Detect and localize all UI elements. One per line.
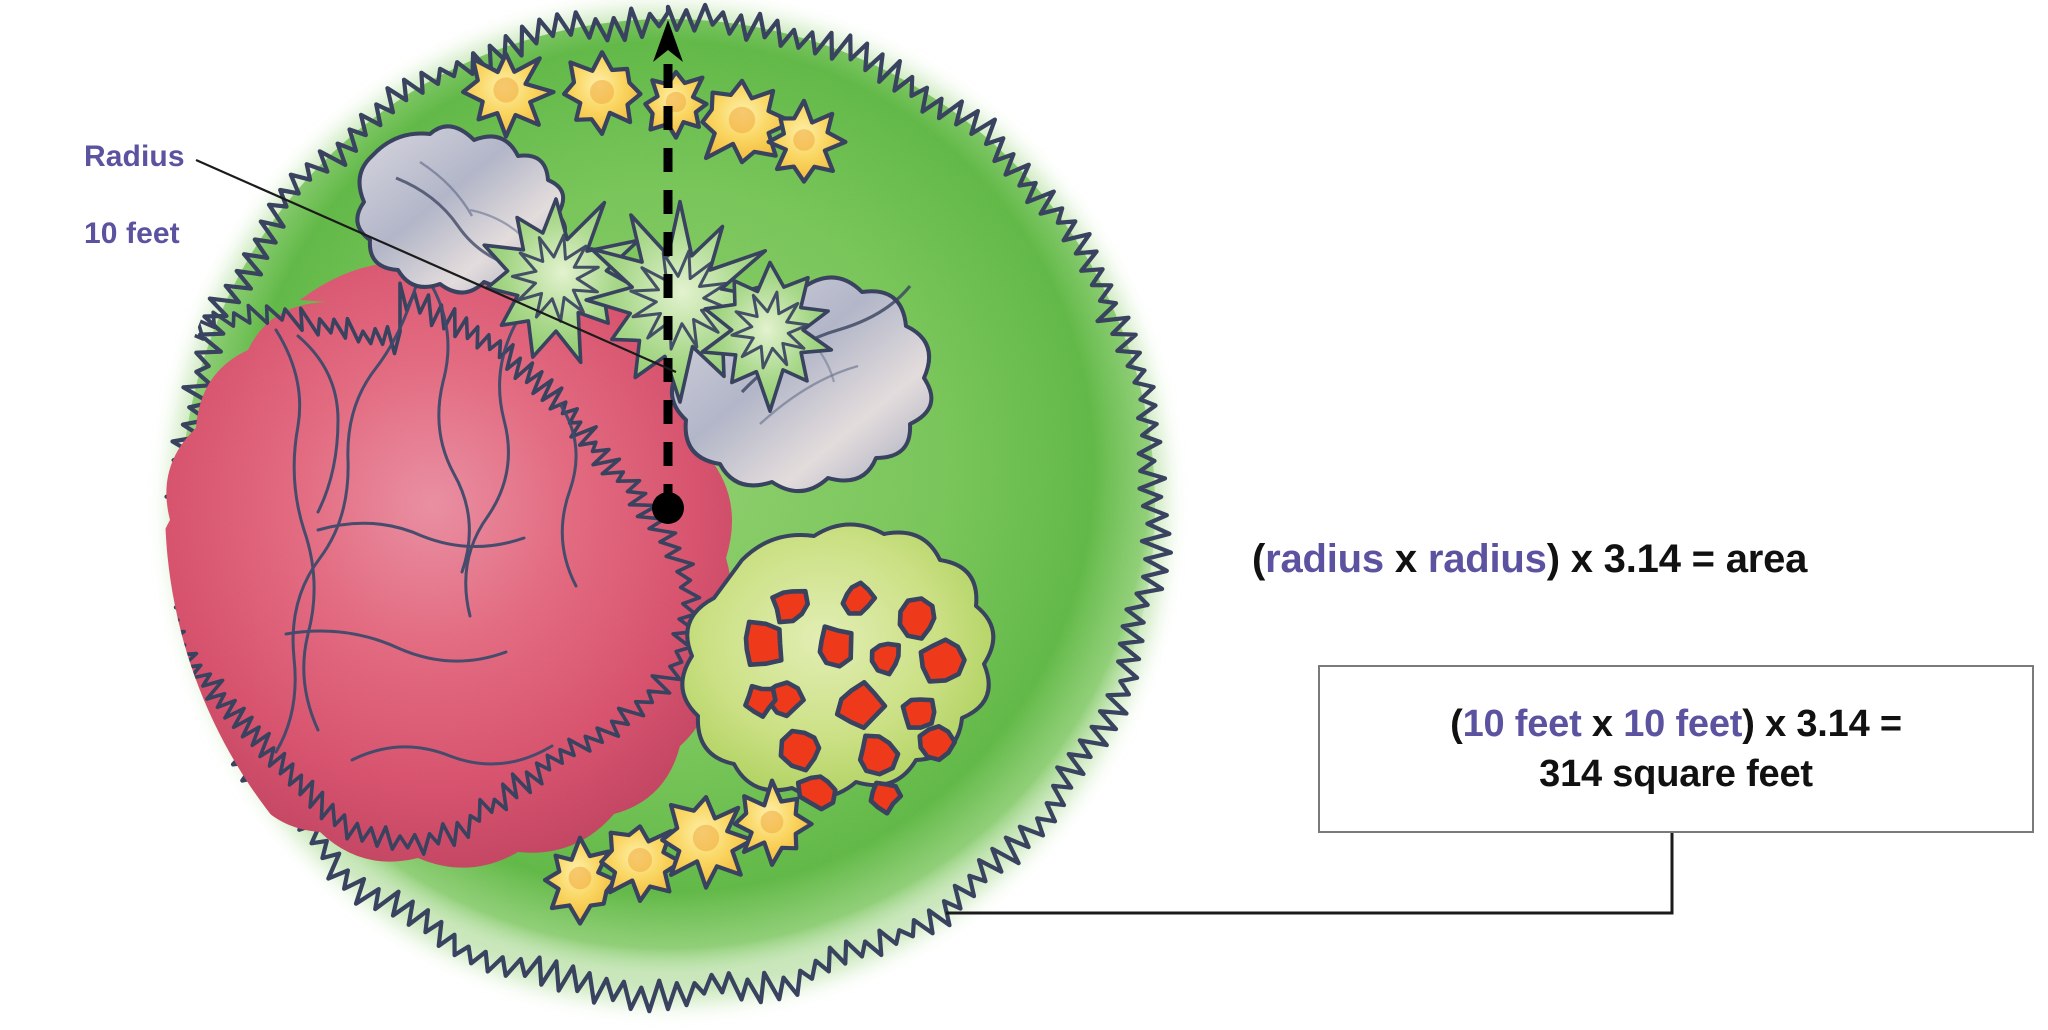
worked-example-line1: (10 feet x 10 feet) x 3.14 =: [1450, 699, 1902, 749]
formula-tail: x 3.14 = area: [1560, 537, 1807, 581]
formula-term-radius-2: radius: [1428, 537, 1547, 581]
formula-close-paren: ): [1547, 537, 1560, 581]
radius-label-line1: Radius: [84, 138, 185, 176]
radius-label-line2: 10 feet: [84, 215, 185, 253]
formula-term-radius-1: radius: [1265, 537, 1384, 581]
example-operator: x: [1582, 703, 1624, 745]
worked-example-box: (10 feet x 10 feet) x 3.14 = 314 square …: [1318, 665, 2034, 833]
circle-center-dot: [652, 492, 684, 524]
formula-open-paren: (: [1252, 537, 1265, 581]
yellow-flower-clump: [645, 72, 706, 138]
example-close-paren: ): [1742, 703, 1754, 745]
example-tail: x 3.14 =: [1755, 703, 1902, 745]
example-term-10feet-2: 10 feet: [1623, 703, 1742, 745]
formula-operator: x: [1384, 537, 1428, 581]
worked-example-result: 314 square feet: [1539, 749, 1813, 799]
yellow-flower-clump: [662, 797, 752, 888]
radius-annotation-label: Radius 10 feet: [84, 100, 185, 292]
example-open-paren: (: [1450, 703, 1462, 745]
example-term-10feet-1: 10 feet: [1463, 703, 1582, 745]
area-formula: (radius x radius) x 3.14 = area: [1252, 537, 1807, 582]
diagram-canvas: Radius 10 feet (radius x radius) x 3.14 …: [0, 0, 2048, 1030]
